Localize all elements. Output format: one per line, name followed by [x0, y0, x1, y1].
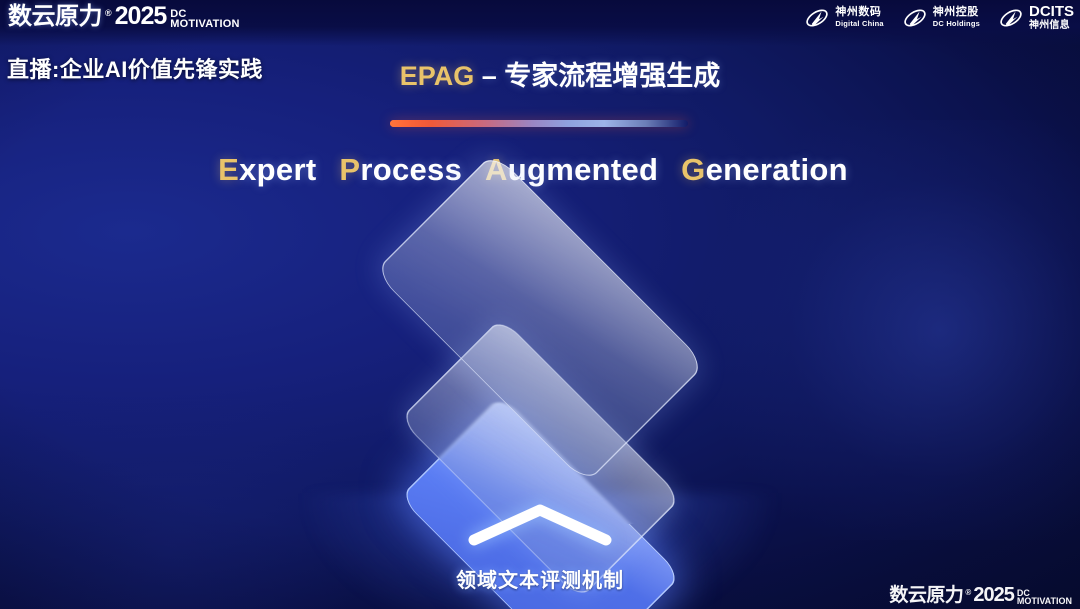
brand-year: 2025: [115, 4, 167, 29]
expansion-initial: P: [339, 152, 360, 187]
brand-logo-top-left: 数云原力 ® 2025 DC MOTIVATION: [8, 4, 240, 29]
watermark-registered-mark: ®: [965, 589, 971, 597]
watermark-name-cn: 数云原力: [889, 586, 963, 605]
swoosh-icon: [804, 5, 830, 31]
slide-title: EPAG – 专家流程增强生成: [0, 54, 1080, 93]
logo-digital-china: 神州数码 Digital China: [804, 5, 883, 31]
title-chinese: 专家流程增强生成: [504, 61, 720, 91]
logo-dcits-text: DCITS 神州信息: [1029, 4, 1074, 31]
brand-dc-motivation: DC MOTIVATION: [170, 10, 239, 30]
brand-name-cn: 数云原力: [8, 5, 102, 29]
logo-label-en: DC Holdings: [933, 20, 980, 28]
logo-dc-holdings-text: 神州控股 DC Holdings: [933, 7, 980, 28]
logo-label-cn: 神州数码: [835, 7, 883, 18]
logo-dc-holdings: 神州控股 DC Holdings: [902, 5, 980, 31]
footer-watermark: 数云原力 ® 2025 DC MOTIVATION: [889, 585, 1072, 605]
partner-logo-group: 神州数码 Digital China 神州控股 DC Holdings DCIT…: [804, 4, 1074, 31]
presentation-slide: 数云原力 ® 2025 DC MOTIVATION 直播:企业AI价值先锋实践 …: [0, 0, 1080, 609]
title-expansion: Expert Process Augmented Generation: [0, 152, 1080, 188]
watermark-motivation-text: MOTIVATION: [1017, 597, 1072, 606]
brand-motivation-text: MOTIVATION: [170, 19, 239, 30]
expansion-rest: xpert: [239, 152, 316, 187]
expansion-word-generation: Generation: [681, 152, 848, 188]
title-dash: –: [474, 61, 504, 91]
logo-label-cn: DCITS: [1029, 4, 1074, 19]
logo-label-en: Digital China: [835, 20, 883, 28]
stack-layer-top[interactable]: [290, 218, 790, 418]
expansion-initial: E: [218, 152, 239, 187]
swoosh-icon: [998, 5, 1024, 31]
expansion-initial: G: [681, 152, 705, 187]
title-divider-bar: [390, 120, 688, 127]
expansion-rest: eneration: [706, 152, 848, 187]
watermark-year: 2025: [973, 585, 1014, 605]
expansion-word-process: Process: [339, 152, 462, 188]
brand-registered-mark: ®: [105, 9, 112, 18]
logo-dcits: DCITS 神州信息: [998, 4, 1074, 31]
logo-label-en: 神州信息: [1029, 21, 1074, 31]
expansion-rest: ugmented: [508, 152, 659, 187]
layered-stack-diagram: 领域文本评测机制 Dynamic MOE 长文本记忆 三类语义建模模块: [290, 228, 790, 568]
expansion-rest: rocess: [360, 152, 462, 187]
logo-digital-china-text: 神州数码 Digital China: [835, 7, 883, 28]
watermark-dc-motivation: DC MOTIVATION: [1017, 590, 1072, 606]
swoosh-icon: [902, 5, 928, 31]
title-abbreviation: EPAG: [400, 61, 475, 91]
expansion-word-expert: Expert: [218, 152, 316, 188]
logo-label-cn: 神州控股: [933, 7, 980, 18]
